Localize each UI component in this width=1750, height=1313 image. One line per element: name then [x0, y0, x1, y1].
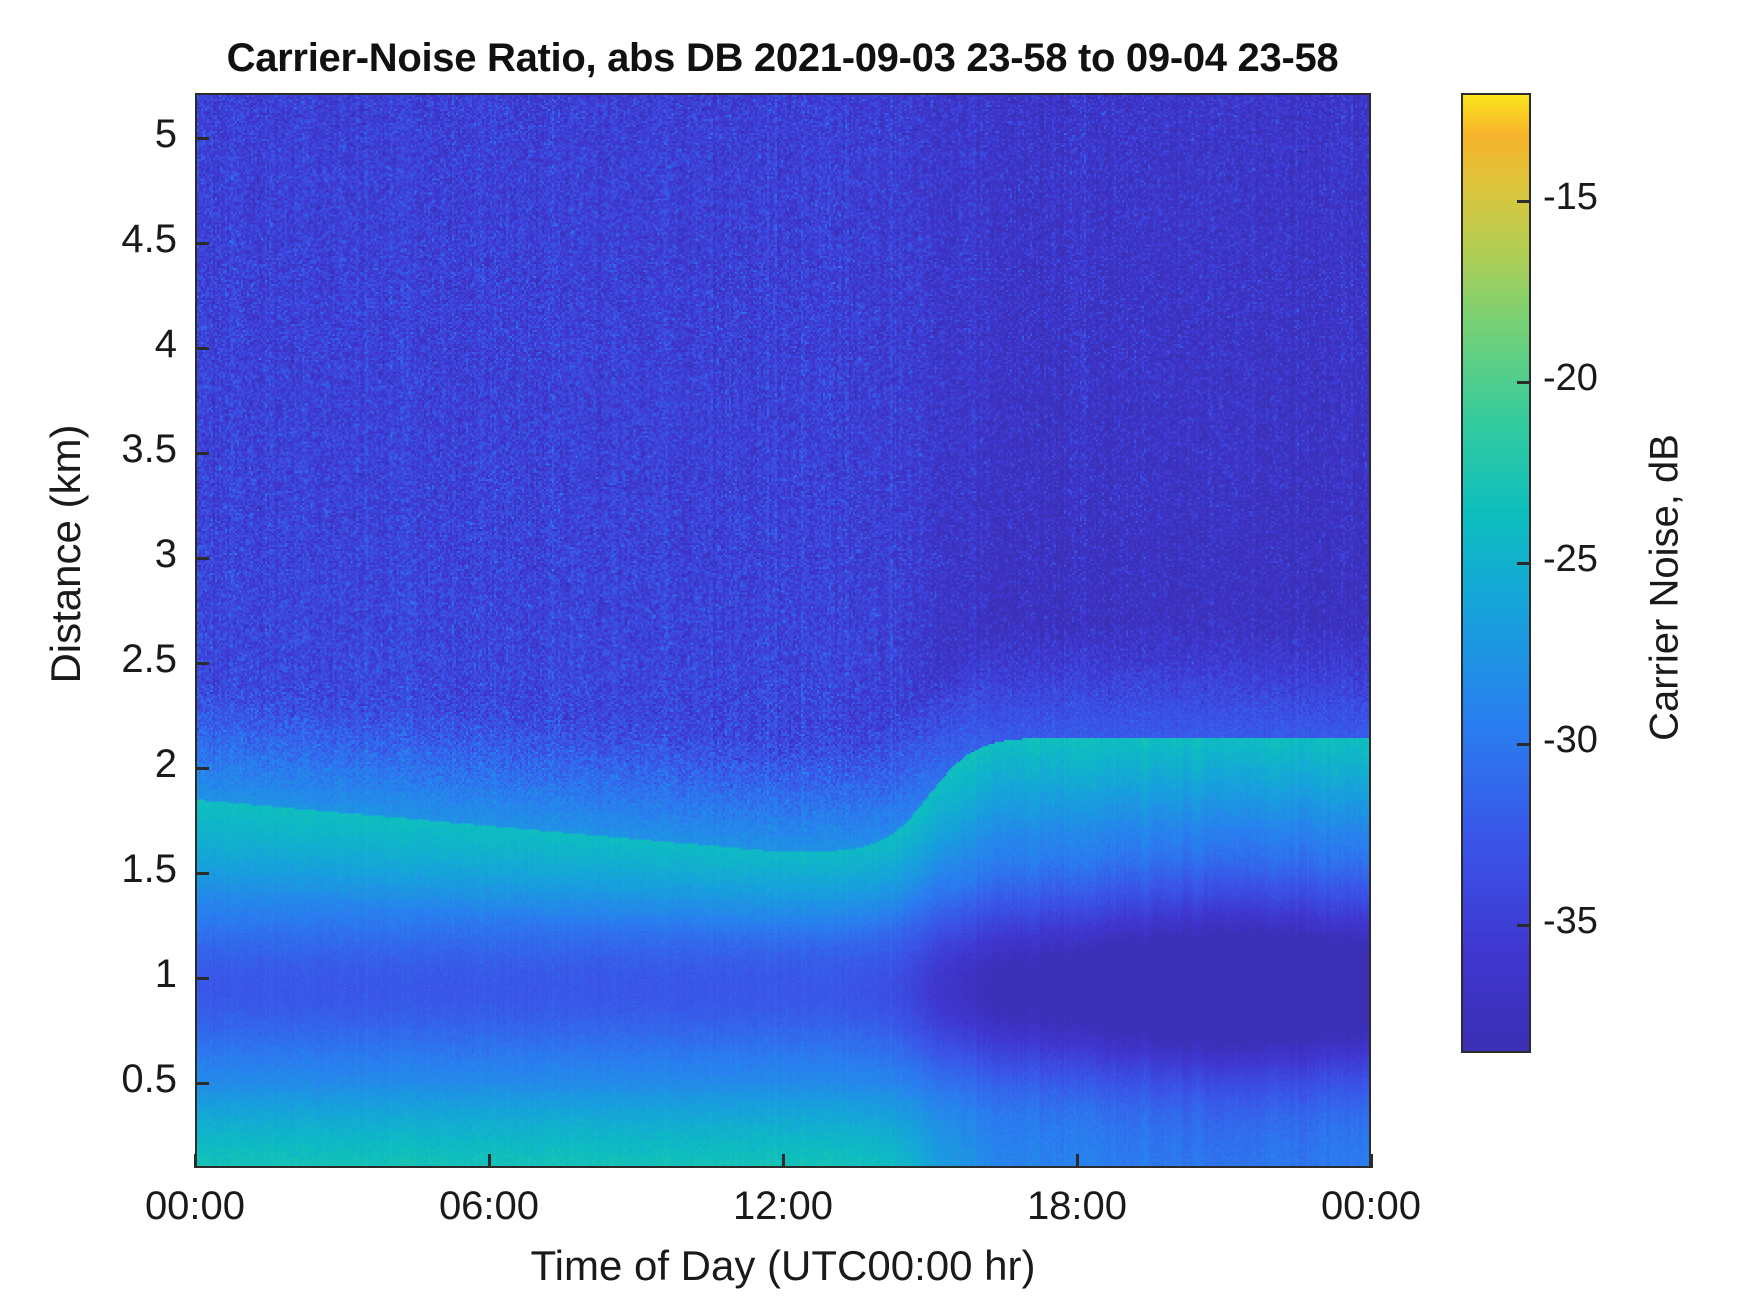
y-tick-label: 3.5	[121, 427, 177, 472]
colorbar-tick-mark	[1517, 924, 1531, 927]
x-tick-mark	[782, 1154, 785, 1168]
x-tick-label: 00:00	[1261, 1184, 1481, 1229]
y-axis-label: Distance (km)	[42, 54, 90, 1054]
y-tick-label: 5	[155, 112, 177, 157]
y-tick-label: 3	[155, 532, 177, 577]
x-tick-label: 12:00	[673, 1184, 893, 1229]
chart-figure: Carrier-Noise Ratio, abs DB 2021-09-03 2…	[0, 0, 1750, 1313]
y-tick-label: 2	[155, 742, 177, 787]
colorbar-tick-label: -15	[1543, 176, 1598, 219]
y-tick-label: 4.5	[121, 217, 177, 262]
y-tick-label: 4	[155, 322, 177, 367]
colorbar-tick-label: -25	[1543, 538, 1598, 581]
colorbar-tick-label: -30	[1543, 719, 1598, 762]
colorbar[interactable]	[1461, 93, 1531, 1053]
x-tick-label: 00:00	[85, 1184, 305, 1229]
x-tick-mark	[1076, 1154, 1079, 1168]
heatmap-canvas	[197, 95, 1369, 1166]
y-tick-mark	[195, 242, 209, 245]
y-tick-mark	[195, 557, 209, 560]
colorbar-tick-mark	[1517, 562, 1531, 565]
chart-title: Carrier-Noise Ratio, abs DB 2021-09-03 2…	[195, 36, 1370, 81]
y-tick-mark	[195, 137, 209, 140]
x-tick-label: 18:00	[967, 1184, 1187, 1229]
colorbar-label: Carrier Noise, dB	[1643, 108, 1688, 1068]
y-tick-mark	[195, 347, 209, 350]
x-tick-mark	[488, 1154, 491, 1168]
heatmap-plot-area[interactable]	[195, 93, 1371, 1168]
y-tick-mark	[195, 977, 209, 980]
y-tick-label: 2.5	[121, 637, 177, 682]
y-tick-label: 1.5	[121, 847, 177, 892]
y-tick-label: 0.5	[121, 1057, 177, 1102]
y-tick-label: 1	[155, 952, 177, 997]
x-axis-label: Time of Day (UTC00:00 hr)	[195, 1242, 1371, 1290]
colorbar-tick-mark	[1517, 381, 1531, 384]
colorbar-tick-mark	[1517, 743, 1531, 746]
x-tick-mark	[194, 1154, 197, 1168]
colorbar-tick-label: -35	[1543, 900, 1598, 943]
y-tick-mark	[195, 767, 209, 770]
x-tick-mark	[1370, 1154, 1373, 1168]
y-tick-mark	[195, 872, 209, 875]
y-tick-mark	[195, 452, 209, 455]
y-tick-mark	[195, 662, 209, 665]
x-tick-label: 06:00	[379, 1184, 599, 1229]
colorbar-gradient	[1463, 95, 1529, 1051]
colorbar-tick-mark	[1517, 200, 1531, 203]
colorbar-tick-label: -20	[1543, 357, 1598, 400]
y-tick-mark	[195, 1082, 209, 1085]
